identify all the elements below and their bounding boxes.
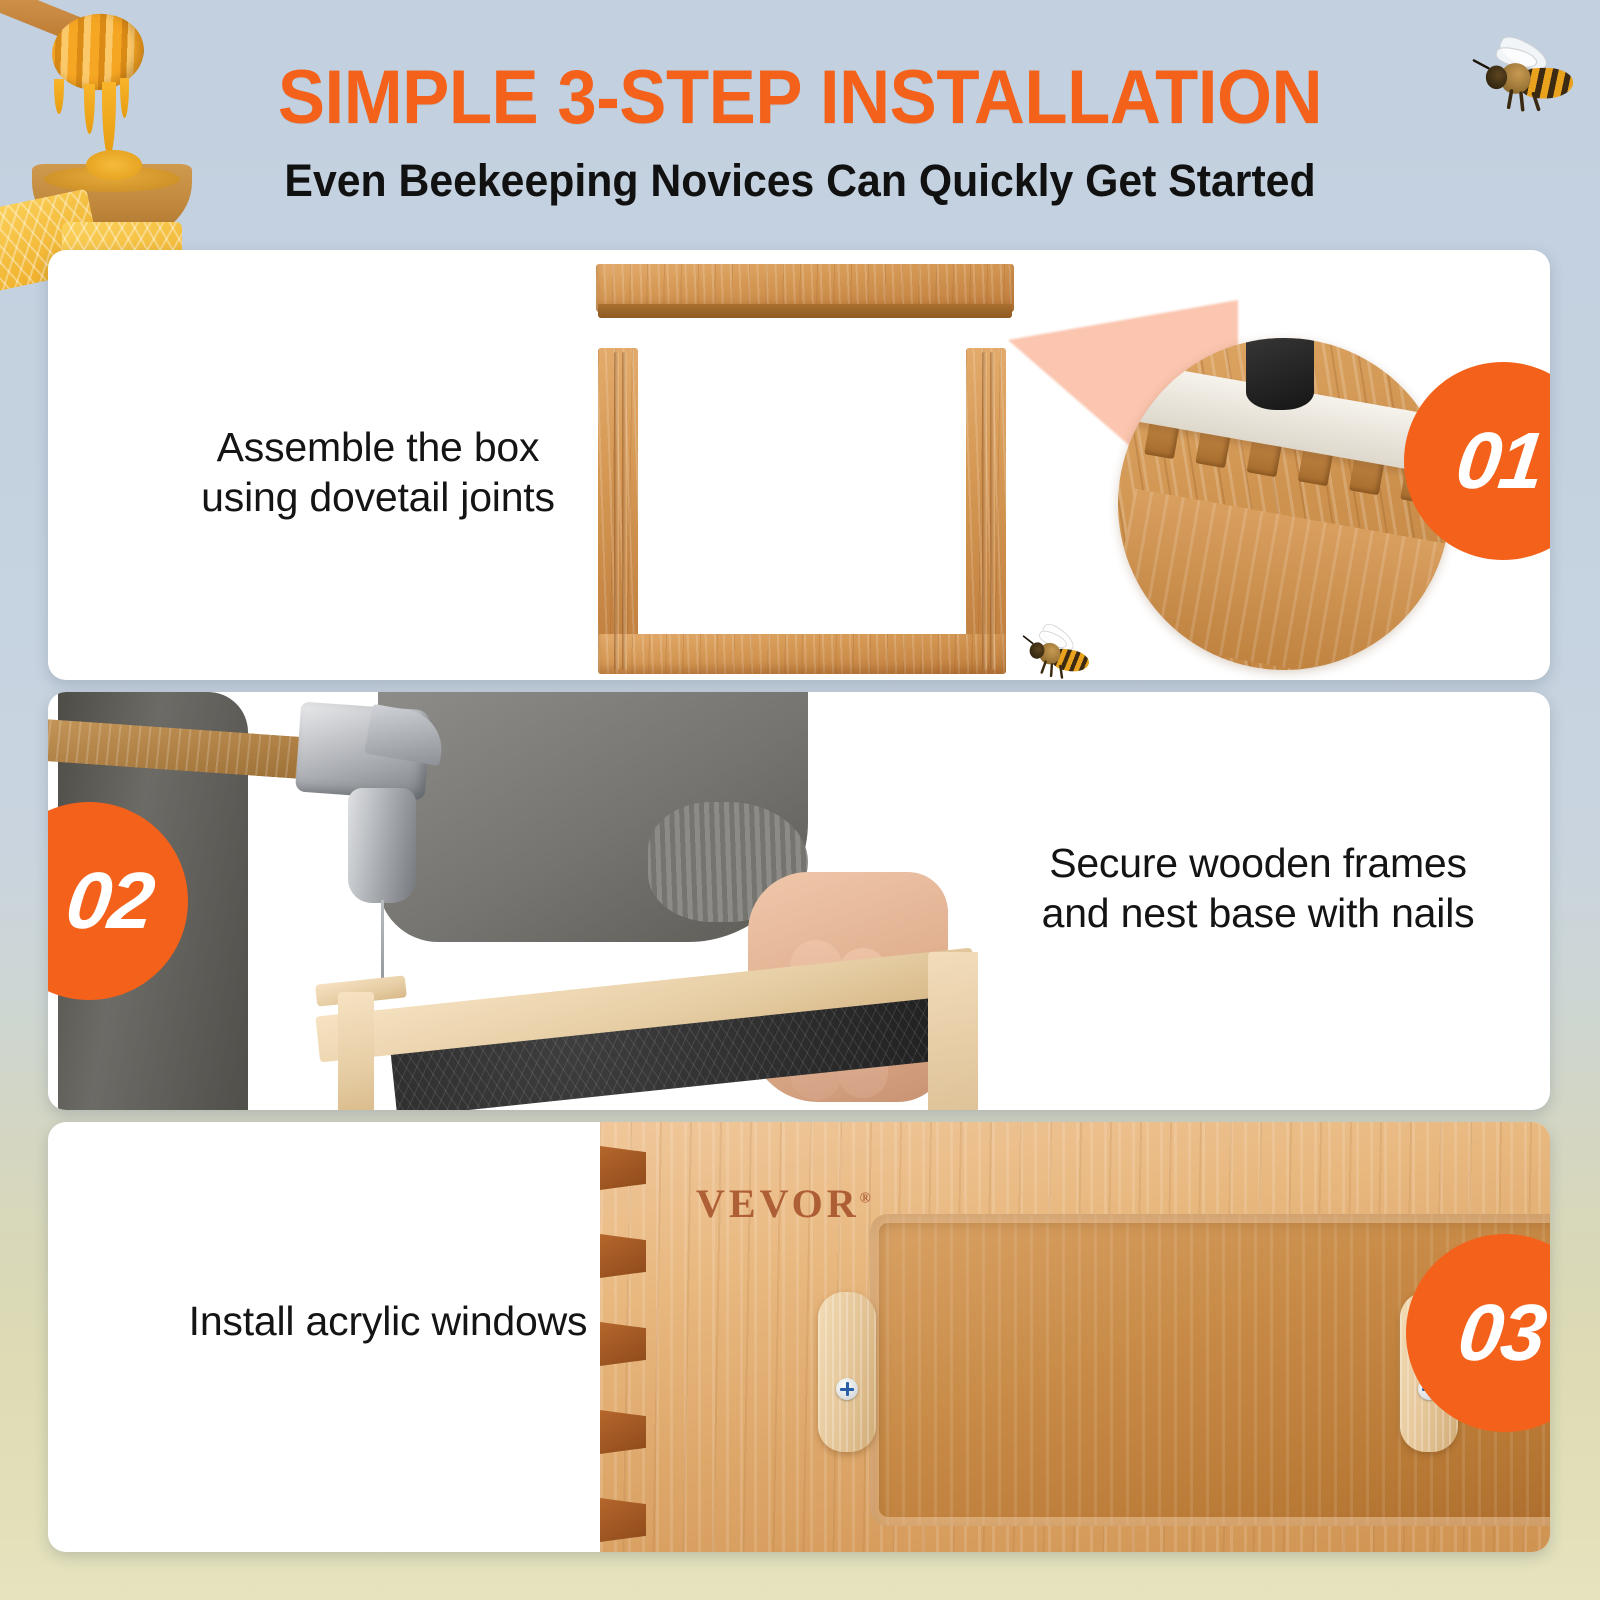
vevor-logo: VEVOR® — [696, 1180, 871, 1227]
bee-leg — [1050, 663, 1053, 677]
dovetail-tenon — [600, 1498, 646, 1542]
dovetail-tenon — [600, 1234, 646, 1278]
dovetail-tenon — [600, 1146, 646, 1190]
hive-bottom-panel — [598, 634, 1006, 674]
honey-drip — [84, 84, 95, 134]
honey-drip — [54, 79, 64, 114]
panel-groove — [982, 352, 987, 670]
step-01-text: Assemble the box using dovetail joints — [138, 422, 618, 522]
panel-groove — [990, 352, 995, 670]
header: SIMPLE 3-STEP INSTALLATION Even Beekeepi… — [0, 0, 1600, 250]
step-card-03[interactable]: VEVOR® Install acrylic windows 03 — [48, 1122, 1550, 1552]
step-card-02[interactable]: Secure wooden frames and nest base with … — [48, 692, 1550, 1110]
vevor-logo-text: VEVOR — [696, 1181, 860, 1226]
honey-drip — [120, 78, 129, 118]
frame-side-bar — [338, 992, 374, 1110]
screw-icon — [836, 1378, 858, 1400]
step-number-01: 01 — [1451, 415, 1547, 507]
step-number-02: 02 — [61, 855, 157, 947]
bee-leg — [1519, 91, 1525, 111]
page-title: SIMPLE 3-STEP INSTALLATION — [56, 54, 1544, 141]
step-03-text: Install acrylic windows — [118, 1296, 658, 1346]
hive-top-panel-edge — [598, 304, 1012, 318]
honey-drip — [102, 82, 116, 157]
window-latch-left[interactable] — [818, 1292, 876, 1452]
dovetail-tenon — [600, 1410, 646, 1454]
bee-icon — [1436, 54, 1589, 137]
frame-side-bar — [928, 952, 978, 1110]
bee-antenna — [1022, 635, 1033, 644]
hammer-neck — [348, 788, 416, 903]
page-subtitle: Even Beekeeping Novices Can Quickly Get … — [40, 155, 1560, 207]
trademark-symbol: ® — [860, 1191, 871, 1207]
bee-antenna — [1472, 59, 1490, 70]
step-number-03: 03 — [1453, 1287, 1549, 1379]
dovetail-detail-inset — [1118, 338, 1450, 670]
step-02-text: Secure wooden frames and nest base with … — [978, 838, 1538, 938]
mallet-icon — [1246, 338, 1314, 410]
honey-splash — [86, 150, 142, 180]
step-card-01[interactable]: Assemble the box using dovetail joints 0… — [48, 250, 1550, 680]
panel-groove — [622, 352, 627, 670]
hive-box-parts-image — [588, 260, 1018, 675]
bee-leg — [1040, 660, 1047, 674]
